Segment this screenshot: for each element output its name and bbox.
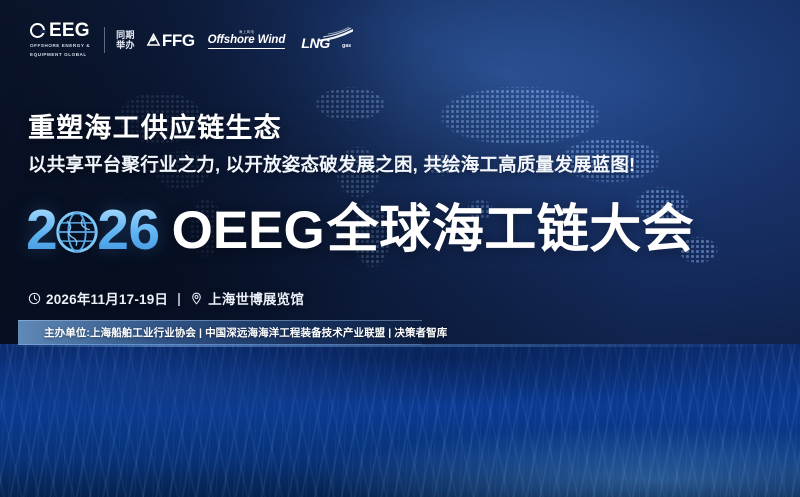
event-venue-text: 上海世博展览馆 — [208, 288, 304, 308]
meta-separator: | — [177, 291, 181, 306]
eeg-logo[interactable]: EEG OFFSHORE ENERGY & EQUIPMENT GLOBAL — [30, 21, 90, 59]
eeg-ring-icon — [30, 23, 45, 38]
ocean-light-swell — [0, 344, 800, 497]
lng-gas-logo[interactable]: LNG gas — [299, 27, 355, 53]
hero-title-cn: 全球海工链大会 — [327, 204, 695, 256]
ffg-wordmark: FFG — [162, 32, 195, 49]
ocean-photo-area — [0, 344, 800, 497]
hero-title-brand: OEEG — [172, 204, 325, 257]
clock-icon — [28, 292, 41, 305]
lng-wordmark: LNG — [301, 35, 330, 51]
hero-headline: 重塑海工供应链生态 — [28, 106, 282, 145]
eeg-wordmark: EEG — [49, 21, 90, 40]
location-pin-icon — [190, 292, 203, 305]
offshore-wind-underline — [208, 48, 286, 49]
hero-title: 2 26 OEEG 全球海工链大会 — [26, 197, 694, 263]
eeg-logo-top: EEG — [30, 21, 90, 40]
event-banner: EEG OFFSHORE ENERGY & EQUIPMENT GLOBAL 同… — [0, 0, 800, 497]
offshore-wind-wordmark: Offshore Wind — [208, 35, 286, 47]
concurrent-label: 同期 举办 — [116, 30, 135, 51]
event-date-group: 2026年11月17-19日 — [28, 288, 168, 308]
hero-title-year-lead: 2 — [26, 202, 57, 259]
logo-bar: EEG OFFSHORE ENERGY & EQUIPMENT GLOBAL 同… — [30, 20, 355, 60]
organizers-text: 主办单位:上海船舶工业行业协会 | 中国深远海海洋工程装备技术产业联盟 | 决策… — [18, 325, 447, 340]
event-venue-group: 上海世博展览馆 — [190, 288, 304, 308]
organizers-bar: 主办单位:上海船舶工业行业协会 | 中国深远海海洋工程装备技术产业联盟 | 决策… — [18, 320, 422, 345]
lng-gas-suffix: gas — [342, 43, 351, 49]
offshore-wind-logo[interactable]: 海上风电 Offshore Wind — [208, 31, 286, 49]
ffg-logo[interactable]: FFG — [146, 32, 195, 49]
concurrent-label-line1: 同期 — [116, 30, 135, 41]
ffg-mountain-icon — [146, 33, 161, 47]
event-date-text: 2026年11月17-19日 — [46, 288, 168, 308]
eeg-tagline-line1: OFFSHORE ENERGY & — [30, 43, 90, 50]
eeg-tagline-line2: EQUIPMENT GLOBAL — [30, 52, 87, 59]
partner-logos: FFG 海上风电 Offshore Wind LNG gas — [146, 27, 355, 53]
event-meta: 2026年11月17-19日 | 上海世博展览馆 — [28, 288, 304, 308]
globe-icon — [55, 210, 99, 254]
logo-divider — [104, 27, 105, 53]
hero-subline: 以共享平台聚行业之力, 以开放姿态破发展之困, 共绘海工高质量发展蓝图! — [28, 151, 635, 177]
concurrent-label-line2: 举办 — [116, 40, 135, 51]
hero-title-year-tail: 26 — [97, 202, 159, 259]
